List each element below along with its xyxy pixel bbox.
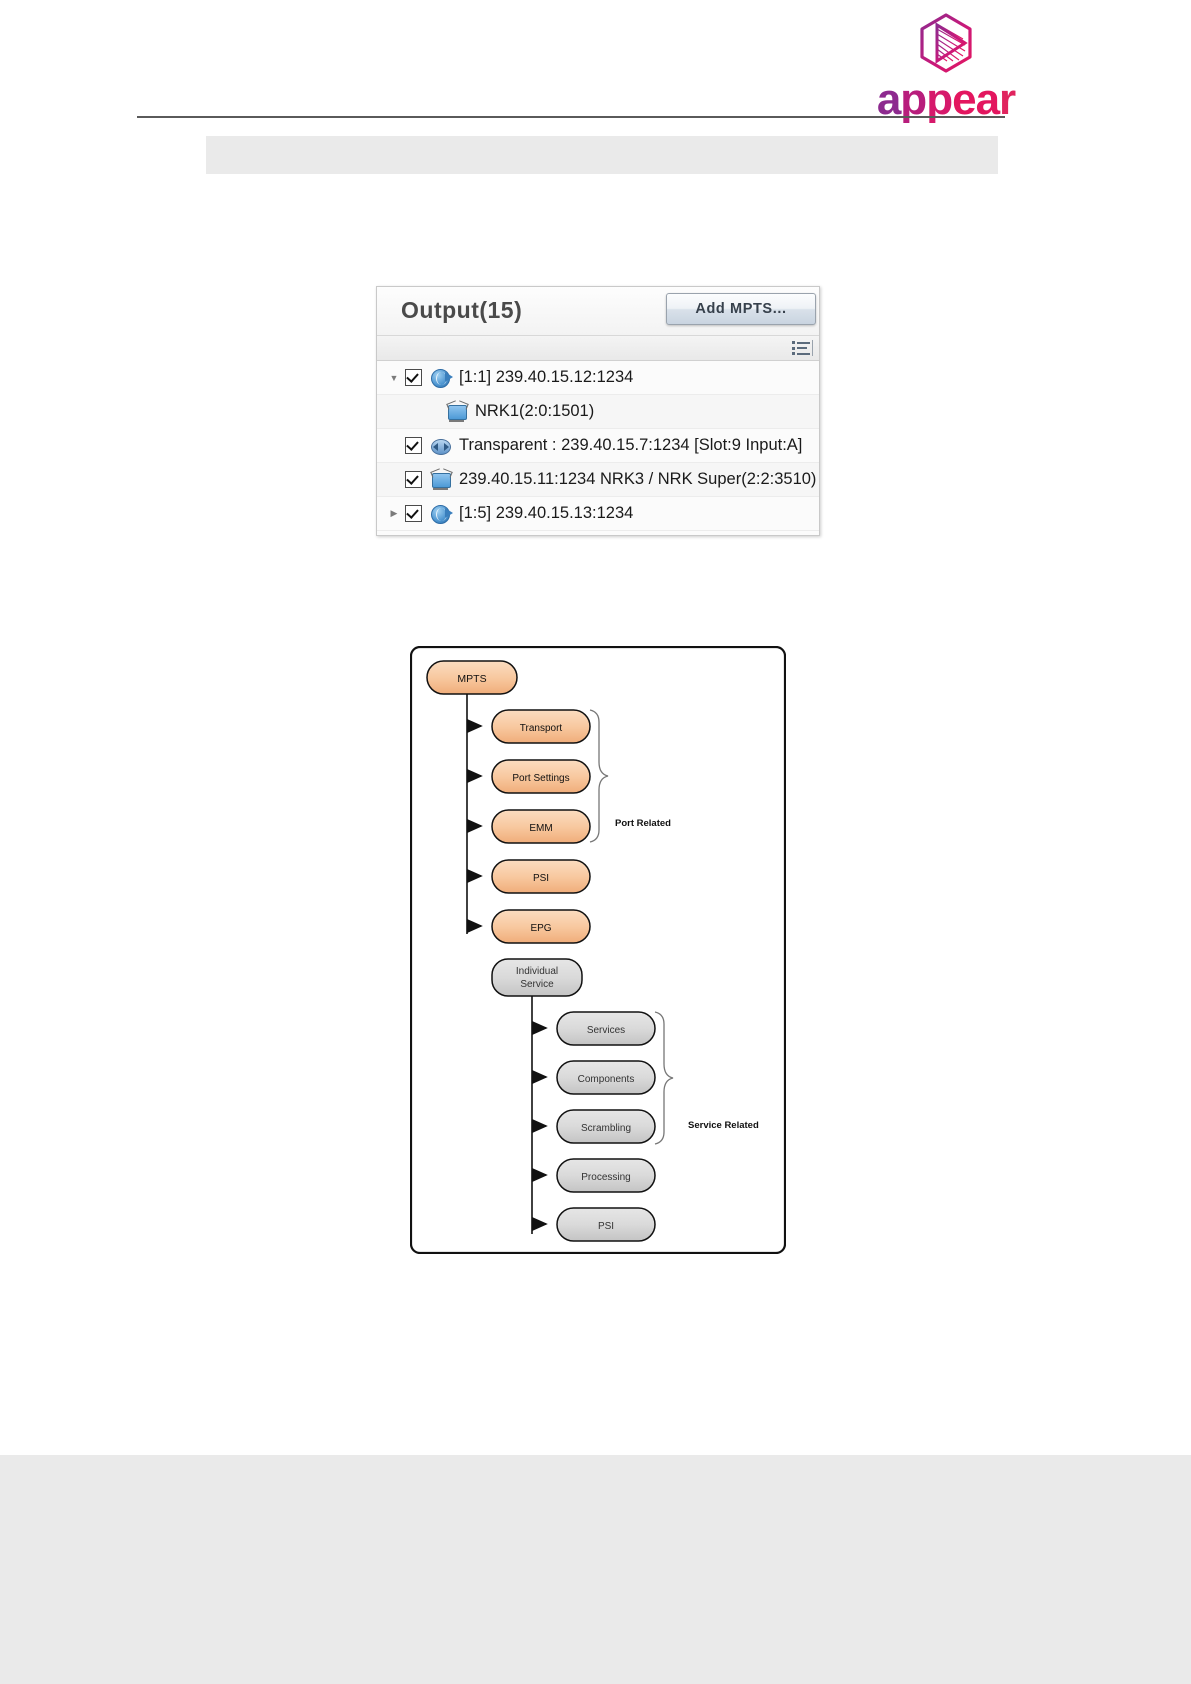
hexagon-play-logo-icon (915, 12, 977, 74)
row-label: [1:5] 239.40.15.13:1234 (459, 504, 633, 523)
diagram-node-label: Port Settings (512, 773, 569, 784)
diagram-node-label: Processing (581, 1172, 630, 1183)
mpts-structure-diagram: MPTS TransportPort SettingsEMMPSIEPG Por… (410, 646, 786, 1254)
diagram-node-label: EPG (530, 923, 551, 934)
top-grey-banner (206, 136, 998, 174)
brand-logo: appear (856, 12, 1036, 122)
diagram-node-label: PSI (598, 1221, 614, 1232)
row-checkbox[interactable] (405, 471, 422, 488)
row-label: 239.40.15.11:1234 NRK3 / NRK Super(2:2:3… (459, 470, 816, 489)
diagram-node-label: Services (587, 1025, 625, 1036)
expand-toggle[interactable]: ▼ (385, 373, 403, 383)
add-mpts-button[interactable]: Add MPTS... (666, 293, 816, 325)
row-checkbox[interactable] (405, 437, 422, 454)
diagram-node-label: Transport (520, 723, 563, 734)
header-divider (137, 116, 1005, 118)
diagram-node-label: Scrambling (581, 1123, 631, 1134)
diagram-node-label: Components (578, 1074, 635, 1085)
row-checkbox[interactable] (405, 369, 422, 386)
diagram-node-label: Individual (516, 966, 558, 977)
row-checkbox[interactable] (405, 505, 422, 522)
table-row[interactable]: Transparent : 239.40.15.7:1234 [Slot:9 I… (377, 429, 819, 463)
table-row[interactable]: ▶[1:5] 239.40.15.13:1234 (377, 497, 819, 531)
tv-icon (446, 402, 468, 422)
service-related-label: Service Related (688, 1120, 759, 1131)
table-row[interactable]: NRK1(2:0:1501) (377, 395, 819, 429)
globe-arrow-icon (430, 368, 452, 388)
list-settings-icon[interactable] (791, 339, 813, 357)
row-label: Transparent : 239.40.15.7:1234 [Slot:9 I… (459, 436, 802, 455)
diagram-node-mpts: MPTS (427, 661, 517, 694)
output-panel: Output(15) Add MPTS... ▼[1:1] 239.40.15.… (376, 286, 820, 536)
table-row[interactable]: ▼[1:1] 239.40.15.12:1234 (377, 361, 819, 395)
diagram-node-label: PSI (533, 873, 549, 884)
expand-toggle[interactable]: ▶ (385, 508, 403, 519)
globe-arrow-icon (430, 504, 452, 524)
diagram-node-label: Service (520, 979, 554, 990)
panel-header: Output(15) Add MPTS... (377, 287, 819, 336)
tv-icon (430, 470, 452, 490)
diagram-node-label: MPTS (457, 673, 486, 685)
transparent-icon (430, 436, 452, 456)
row-label: [1:1] 239.40.15.12:1234 (459, 368, 633, 387)
panel-toolbar (377, 336, 819, 361)
row-label: NRK1(2:0:1501) (475, 402, 594, 421)
output-tree[interactable]: ▼[1:1] 239.40.15.12:1234NRK1(2:0:1501)Tr… (377, 361, 819, 531)
table-row[interactable]: 239.40.15.11:1234 NRK3 / NRK Super(2:2:3… (377, 463, 819, 497)
port-related-label: Port Related (615, 818, 671, 829)
diagram-node-label: EMM (529, 823, 552, 834)
diagram-node-individual-service: Individual Service (492, 959, 582, 996)
page-title: Output(15) (401, 297, 522, 324)
bottom-grey-banner (0, 1455, 1191, 1684)
